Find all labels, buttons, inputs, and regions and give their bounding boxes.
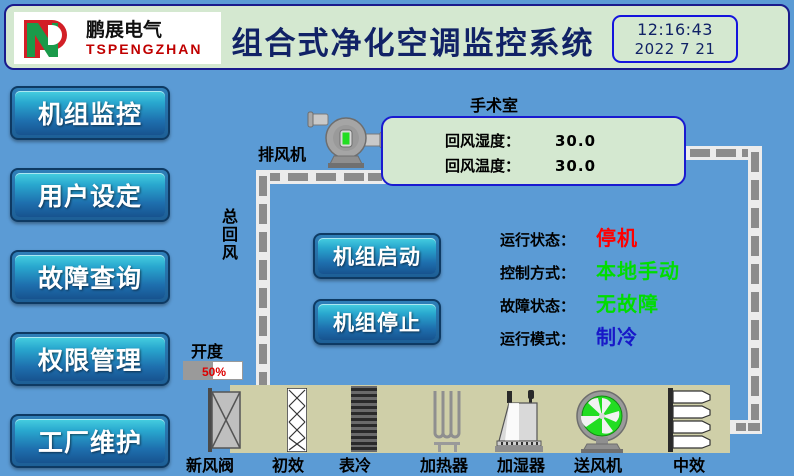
duct-right-vertical bbox=[748, 146, 762, 434]
equipment-label-humidifier: 加湿器 bbox=[497, 452, 545, 476]
room-row: 回风温度： 30.0 bbox=[445, 155, 684, 176]
damper-opening-bar[interactable]: 50% bbox=[183, 361, 243, 380]
sidebar-item-fault-query[interactable]: 故障查询 bbox=[10, 250, 170, 304]
sidebar-item-label: 权限管理 bbox=[38, 341, 142, 377]
tspengzhan-logo-icon bbox=[18, 14, 82, 62]
equipment-label-heater: 加热器 bbox=[420, 452, 468, 476]
duct-top-left bbox=[256, 170, 386, 184]
unit-stop-label: 机组停止 bbox=[333, 307, 421, 337]
sidebar-item-user-settings[interactable]: 用户设定 bbox=[10, 168, 170, 222]
equipment-label-primary-filter: 初效 bbox=[272, 452, 304, 476]
damper-opening-label: 开度 bbox=[191, 338, 223, 362]
unit-start-button[interactable]: 机组启动 bbox=[313, 233, 441, 279]
status-value-fault-state: 无故障 bbox=[596, 288, 659, 317]
unit-stop-button[interactable]: 机组停止 bbox=[313, 299, 441, 345]
sidebar-item-label: 机组监控 bbox=[38, 95, 142, 131]
sidebar-item-permissions[interactable]: 权限管理 bbox=[10, 332, 170, 386]
room-humidity-value: 30.0 bbox=[555, 132, 596, 150]
clock-time: 12:16:43 bbox=[637, 20, 713, 39]
company-logo: 鹏展电气 TSPENGZHAN bbox=[14, 12, 221, 64]
status-row-control-mode: 控制方式： 本地手动 bbox=[500, 255, 710, 288]
equipment-label-medium-filter: 中效 bbox=[673, 452, 705, 476]
sidebar-item-label: 工厂维护 bbox=[38, 423, 142, 459]
status-key: 控制方式： bbox=[500, 262, 596, 283]
status-value-operation-mode: 制冷 bbox=[596, 321, 638, 350]
unit-start-label: 机组启动 bbox=[333, 241, 421, 271]
logo-text-cn: 鹏展电气 bbox=[86, 21, 202, 40]
status-key: 运行状态： bbox=[500, 229, 596, 250]
room-temperature-label: 回风温度： bbox=[445, 155, 555, 176]
status-value-control-mode: 本地手动 bbox=[596, 255, 680, 284]
status-panel: 运行状态： 停机 控制方式： 本地手动 故障状态： 无故障 运行模式： 制冷 bbox=[500, 222, 710, 354]
logo-text-en: TSPENGZHAN bbox=[86, 42, 202, 56]
sidebar-item-unit-monitor[interactable]: 机组监控 bbox=[10, 86, 170, 140]
room-title: 手术室 bbox=[470, 92, 518, 116]
header-bar: 鹏展电气 TSPENGZHAN 组合式净化空调监控系统 12:16:43 202… bbox=[4, 4, 790, 70]
sidebar-item-label: 用户设定 bbox=[38, 177, 142, 213]
exhaust-fan-icon bbox=[306, 108, 388, 170]
equipment-label-supply-fan: 送风机 bbox=[574, 452, 622, 476]
equipment-label-cooling-coil: 表冷 bbox=[339, 452, 371, 476]
return-air-label: 总回风 bbox=[220, 208, 240, 262]
equipment-label-fresh-air-damper: 新风阀 bbox=[186, 452, 234, 476]
sidebar-item-label: 故障查询 bbox=[38, 259, 142, 295]
status-value-run-state: 停机 bbox=[596, 222, 638, 251]
page-title: 组合式净化空调监控系统 bbox=[228, 18, 598, 62]
damper-opening-value: 50% bbox=[184, 362, 244, 381]
duct-left-vertical bbox=[256, 170, 270, 400]
status-row-run-state: 运行状态： 停机 bbox=[500, 222, 710, 255]
status-key: 故障状态： bbox=[500, 295, 596, 316]
room-row: 回风湿度： 30.0 bbox=[445, 130, 684, 151]
room-humidity-label: 回风湿度： bbox=[445, 130, 555, 151]
hmi-screen: 鹏展电气 TSPENGZHAN 组合式净化空调监控系统 12:16:43 202… bbox=[0, 0, 794, 476]
exhaust-fan-label: 排风机 bbox=[258, 141, 306, 165]
sidebar-item-factory-maintenance[interactable]: 工厂维护 bbox=[10, 414, 170, 468]
status-row-operation-mode: 运行模式： 制冷 bbox=[500, 321, 710, 354]
room-info-panel: 回风湿度： 30.0 回风温度： 30.0 bbox=[381, 116, 686, 186]
status-row-fault-state: 故障状态： 无故障 bbox=[500, 288, 710, 321]
clock-date: 2022 7 21 bbox=[635, 40, 716, 58]
room-temperature-value: 30.0 bbox=[555, 157, 596, 175]
status-key: 运行模式： bbox=[500, 328, 596, 349]
clock-display: 12:16:43 2022 7 21 bbox=[612, 15, 738, 63]
